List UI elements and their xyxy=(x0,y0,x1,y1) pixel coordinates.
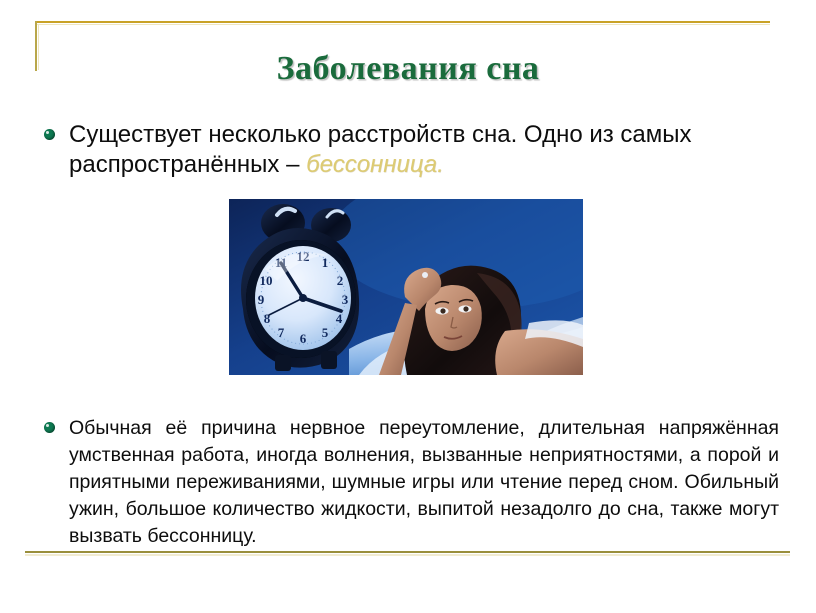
frame-top-line xyxy=(35,21,770,23)
svg-text:5: 5 xyxy=(322,325,329,340)
bullet-item-2-text: Обычная её причина нервное переутомление… xyxy=(69,415,779,550)
svg-text:4: 4 xyxy=(336,311,343,326)
bullet-item-2: Обычная её причина нервное переутомление… xyxy=(44,415,779,550)
insomnia-photo: 12 1 2 3 4 5 6 7 8 9 10 11 xyxy=(229,199,583,375)
svg-text:1: 1 xyxy=(322,255,329,270)
bullet-item-1-text: Существует несколько расстройств сна. Од… xyxy=(69,120,744,180)
frame-bottom-highlight xyxy=(25,554,790,556)
slide: Заболевания сна Существует несколько рас… xyxy=(0,0,816,613)
insomnia-photo-graphic: 12 1 2 3 4 5 6 7 8 9 10 11 xyxy=(229,199,583,375)
green-sphere-bullet-icon xyxy=(44,422,55,433)
svg-text:7: 7 xyxy=(278,325,285,340)
svg-text:2: 2 xyxy=(337,273,344,288)
svg-text:6: 6 xyxy=(300,331,307,346)
svg-text:8: 8 xyxy=(264,311,271,326)
bullet-item-1: Существует несколько расстройств сна. Од… xyxy=(44,120,744,180)
frame-bottom-line xyxy=(25,551,790,553)
svg-text:3: 3 xyxy=(342,292,349,307)
frame-top-highlight xyxy=(35,24,770,25)
keyword-insomnia: бессонница xyxy=(306,151,437,178)
page-title: Заболевания сна xyxy=(0,50,816,88)
bullet-1-text-after: . xyxy=(437,151,444,178)
svg-text:9: 9 xyxy=(258,292,265,307)
green-sphere-bullet-icon xyxy=(44,129,55,140)
svg-text:10: 10 xyxy=(260,273,273,288)
